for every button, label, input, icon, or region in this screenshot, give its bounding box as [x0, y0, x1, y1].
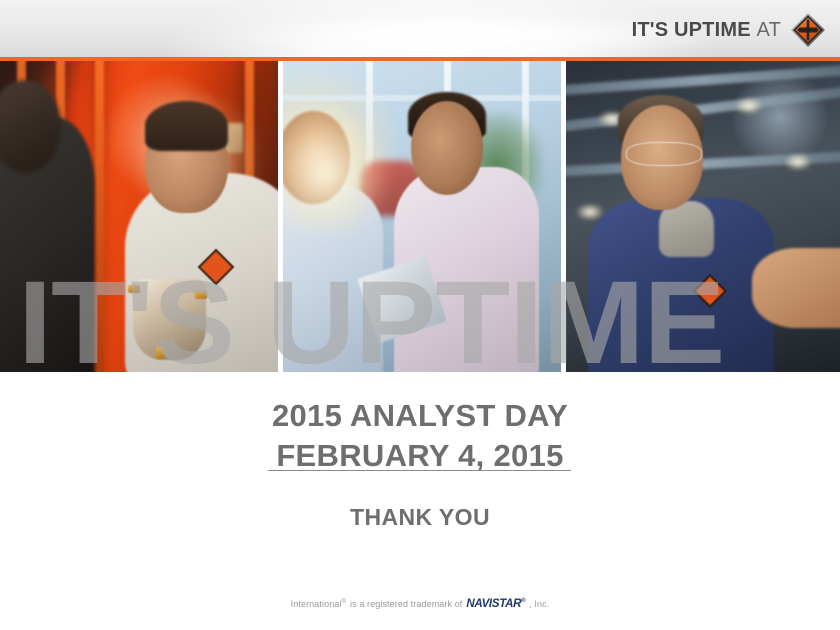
- slide-header: IT'S UPTIME AT: [0, 0, 840, 57]
- brand-tagline: IT'S UPTIME AT: [632, 12, 826, 48]
- trademark-middle: is a registered trademark of: [350, 599, 462, 609]
- slide-content: 2015 ANALYST DAY FEBRUARY 4, 2015 THANK …: [0, 372, 840, 630]
- trademark-footer: International® is a registered trademark…: [0, 598, 840, 610]
- warehouse-scene: [0, 61, 278, 372]
- photo-parts-warehouse: [0, 61, 278, 372]
- service-bay-scene: [566, 61, 840, 372]
- trademark-line: International® is a registered trademark…: [291, 598, 550, 610]
- title-underline: [268, 470, 571, 471]
- thank-you-text: THANK YOU: [0, 504, 840, 531]
- trademark-prefix: International®: [291, 599, 346, 609]
- photo-service-bay-technician: [566, 61, 840, 372]
- photo-dealership-tablet: [283, 61, 561, 372]
- tagline-bold: IT'S UPTIME: [632, 19, 751, 41]
- registered-symbol: ®: [342, 599, 347, 605]
- trademark-suffix: , Inc.: [529, 599, 549, 609]
- title-block: 2015 ANALYST DAY FEBRUARY 4, 2015: [0, 396, 840, 475]
- tagline-light: AT: [757, 19, 781, 41]
- event-title: 2015 ANALYST DAY: [0, 396, 840, 436]
- tagline-text: IT'S UPTIME AT: [632, 20, 781, 40]
- international-diamond-logo: [790, 12, 826, 48]
- navistar-wordmark: NAVISTAR®: [466, 598, 525, 610]
- dealership-scene: [283, 61, 561, 372]
- photo-band: IT'S UPTIME: [0, 61, 840, 372]
- presentation-slide: IT'S UPTIME AT: [0, 0, 840, 630]
